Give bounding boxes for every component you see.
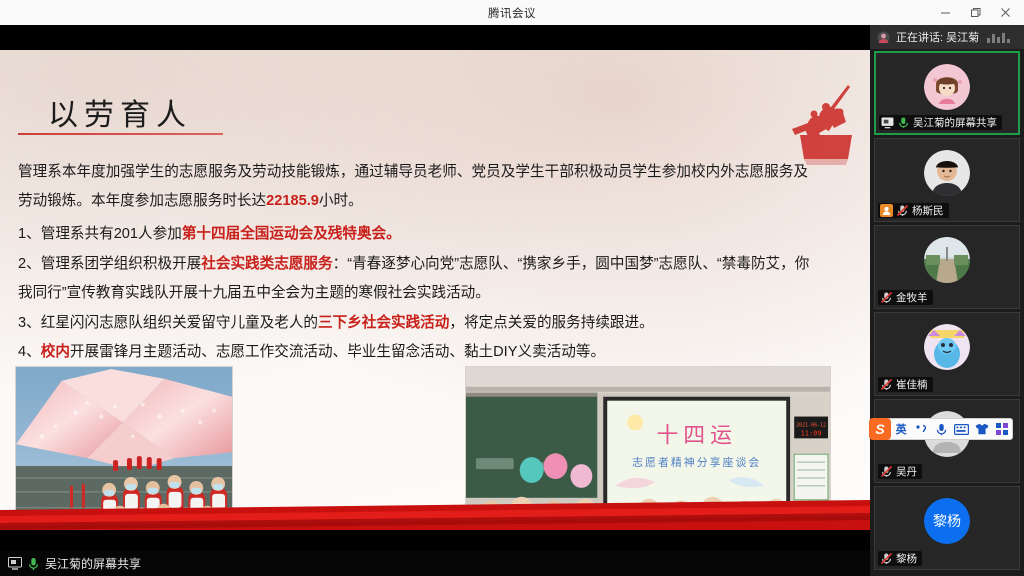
red-ribbon-decoration	[0, 496, 870, 530]
slide-bullet-list: 1、管理系共有201人参加第十四届全国运动会及残特奥会。 2、管理系团学组织积极…	[18, 220, 813, 368]
paragraph-highlight-hours: 22185.9	[266, 193, 319, 209]
bullet-post-text: ，将定点关爱的服务持续跟进。	[449, 315, 653, 331]
bullet-pre-text: 管理系团学组织积极开展	[41, 256, 202, 272]
bullet-item: 2、管理系团学组织积极开展社会实践类志愿服务：“青春逐梦心向党”志愿队、“携家乡…	[18, 250, 813, 309]
avatar: 黎杨	[924, 498, 970, 544]
sogou-logo-icon[interactable]: S	[869, 418, 891, 440]
shared-screen-stage: 以劳育人 管理系本年度加强学生的志愿服务及劳动技能锻炼，通过辅导员老师、党员及学…	[0, 25, 870, 551]
speaking-indicator-bar: 正在讲话: 吴江菊	[870, 25, 1024, 49]
participant-tile[interactable]: 吴江菊的屏幕共享	[874, 51, 1020, 135]
voice-input-icon[interactable]	[931, 423, 951, 436]
apps-grid-icon[interactable]	[992, 423, 1012, 435]
app-title: 腾讯会议	[488, 5, 536, 21]
title-bar: 腾讯会议	[0, 0, 1024, 25]
svg-text:十四运: 十四运	[656, 423, 737, 448]
avatar	[924, 237, 970, 283]
screen-share-status-bar: 吴江菊的屏幕共享	[0, 551, 870, 576]
avatar	[924, 324, 970, 370]
participant-label: 杨斯民	[878, 203, 949, 218]
participant-label: 黎杨	[878, 551, 922, 566]
bullet-highlight: 社会实践类志愿服务	[201, 256, 332, 272]
participant-tile[interactable]: 金牧羊	[874, 225, 1020, 309]
participant-name: 吴江菊的屏幕共享	[913, 115, 997, 130]
participant-tile[interactable]: 杨斯民	[874, 138, 1020, 222]
participant-name: 吴丹	[896, 464, 917, 479]
sogou-ime-toolbar[interactable]: S 英	[873, 418, 1013, 440]
screen-share-icon	[8, 557, 22, 570]
microphone-muted-icon	[880, 552, 893, 565]
microphone-muted-icon	[896, 204, 909, 217]
minimize-button[interactable]	[930, 0, 960, 25]
paragraph-text-suffix: 小时。	[319, 193, 363, 209]
close-button[interactable]	[990, 0, 1020, 25]
punctuation-toggle[interactable]	[911, 424, 931, 435]
avatar-initials: 黎杨	[933, 514, 961, 530]
participant-tile[interactable]: 吴丹	[874, 399, 1020, 483]
paragraph-text-prefix: 管理系本年度加强学生的志愿服务及劳动技能锻炼，通过辅导员老师、党员及学生干部积极…	[18, 164, 808, 209]
bullet-marker: 1、	[18, 226, 41, 242]
soft-keyboard-icon[interactable]	[952, 424, 972, 435]
avatar	[924, 150, 970, 196]
bullet-marker: 4、	[18, 344, 41, 360]
restore-button[interactable]	[960, 0, 990, 25]
participant-tile[interactable]: 崔佳楠	[874, 312, 1020, 396]
microphone-muted-icon	[880, 291, 893, 304]
bullet-highlight: 三下乡社会实践活动	[318, 315, 449, 331]
avatar	[924, 64, 970, 110]
microphone-icon	[897, 116, 910, 129]
bullet-pre-text: 红星闪闪志愿队组织关爱留守儿童及老人的	[41, 315, 318, 331]
participant-rail: 正在讲话: 吴江菊	[870, 25, 1024, 576]
meeting-window: 腾讯会议	[0, 0, 1024, 576]
participant-label: 金牧羊	[878, 290, 933, 305]
speaking-label: 正在讲话: 吴江菊	[896, 29, 979, 45]
monument-decoration-icon	[790, 83, 862, 169]
svg-text:志愿者精神分享座谈会: 志愿者精神分享座谈会	[632, 455, 761, 469]
bullet-marker: 2、	[18, 256, 41, 272]
bullet-highlight: 第十四届全国运动会及残特奥会。	[182, 226, 401, 242]
participant-label: 吴江菊的屏幕共享	[879, 115, 1002, 130]
window-controls	[930, 0, 1020, 25]
slide-paragraph: 管理系本年度加强学生的志愿服务及劳动技能锻炼，通过辅导员老师、党员及学生干部积极…	[18, 158, 808, 216]
bullet-item: 3、红星闪闪志愿队组织关爱留守儿童及老人的三下乡社会实践活动，将定点关爱的服务持…	[18, 309, 813, 339]
participant-name: 崔佳楠	[896, 377, 928, 392]
speaking-avatar-icon	[877, 31, 890, 44]
svg-text:2021-06-12: 2021-06-12	[796, 422, 826, 428]
participant-label: 吴丹	[878, 464, 922, 479]
participant-name: 黎杨	[896, 551, 917, 566]
slide-title: 以劳育人	[48, 90, 192, 134]
svg-text:11:09: 11:09	[801, 429, 822, 437]
audio-wave-icon	[987, 32, 1010, 43]
bullet-post-text: 开展雷锋月主题活动、志愿工作交流活动、毕业生留念活动、黏土DIY义卖活动等。	[70, 344, 605, 360]
participant-name: 金牧羊	[896, 290, 928, 305]
microphone-muted-icon	[880, 378, 893, 391]
language-mode-toggle[interactable]: 英	[891, 421, 911, 437]
title-underline	[18, 133, 223, 135]
bullet-pre-text: 管理系共有201人参加	[41, 226, 182, 242]
share-bar-label: 吴江菊的屏幕共享	[45, 555, 141, 572]
host-badge-icon	[880, 204, 893, 217]
screen-share-icon	[881, 116, 894, 129]
participant-tile[interactable]: 黎杨 黎杨	[874, 486, 1020, 570]
bullet-marker: 3、	[18, 315, 41, 331]
presentation-slide: 以劳育人 管理系本年度加强学生的志愿服务及劳动技能锻炼，通过辅导员老师、党员及学…	[0, 50, 870, 530]
bullet-highlight: 校内	[41, 344, 70, 360]
bullet-item: 4、校内开展雷锋月主题活动、志愿工作交流活动、毕业生留念活动、黏土DIY义卖活动…	[18, 338, 813, 368]
participant-label: 崔佳楠	[878, 377, 933, 392]
microphone-muted-icon	[880, 465, 893, 478]
skin-icon[interactable]	[972, 423, 992, 435]
microphone-icon	[28, 557, 39, 571]
participant-name: 杨斯民	[912, 203, 944, 218]
bullet-item: 1、管理系共有201人参加第十四届全国运动会及残特奥会。	[18, 220, 813, 250]
participant-tiles: 吴江菊的屏幕共享	[870, 49, 1024, 576]
